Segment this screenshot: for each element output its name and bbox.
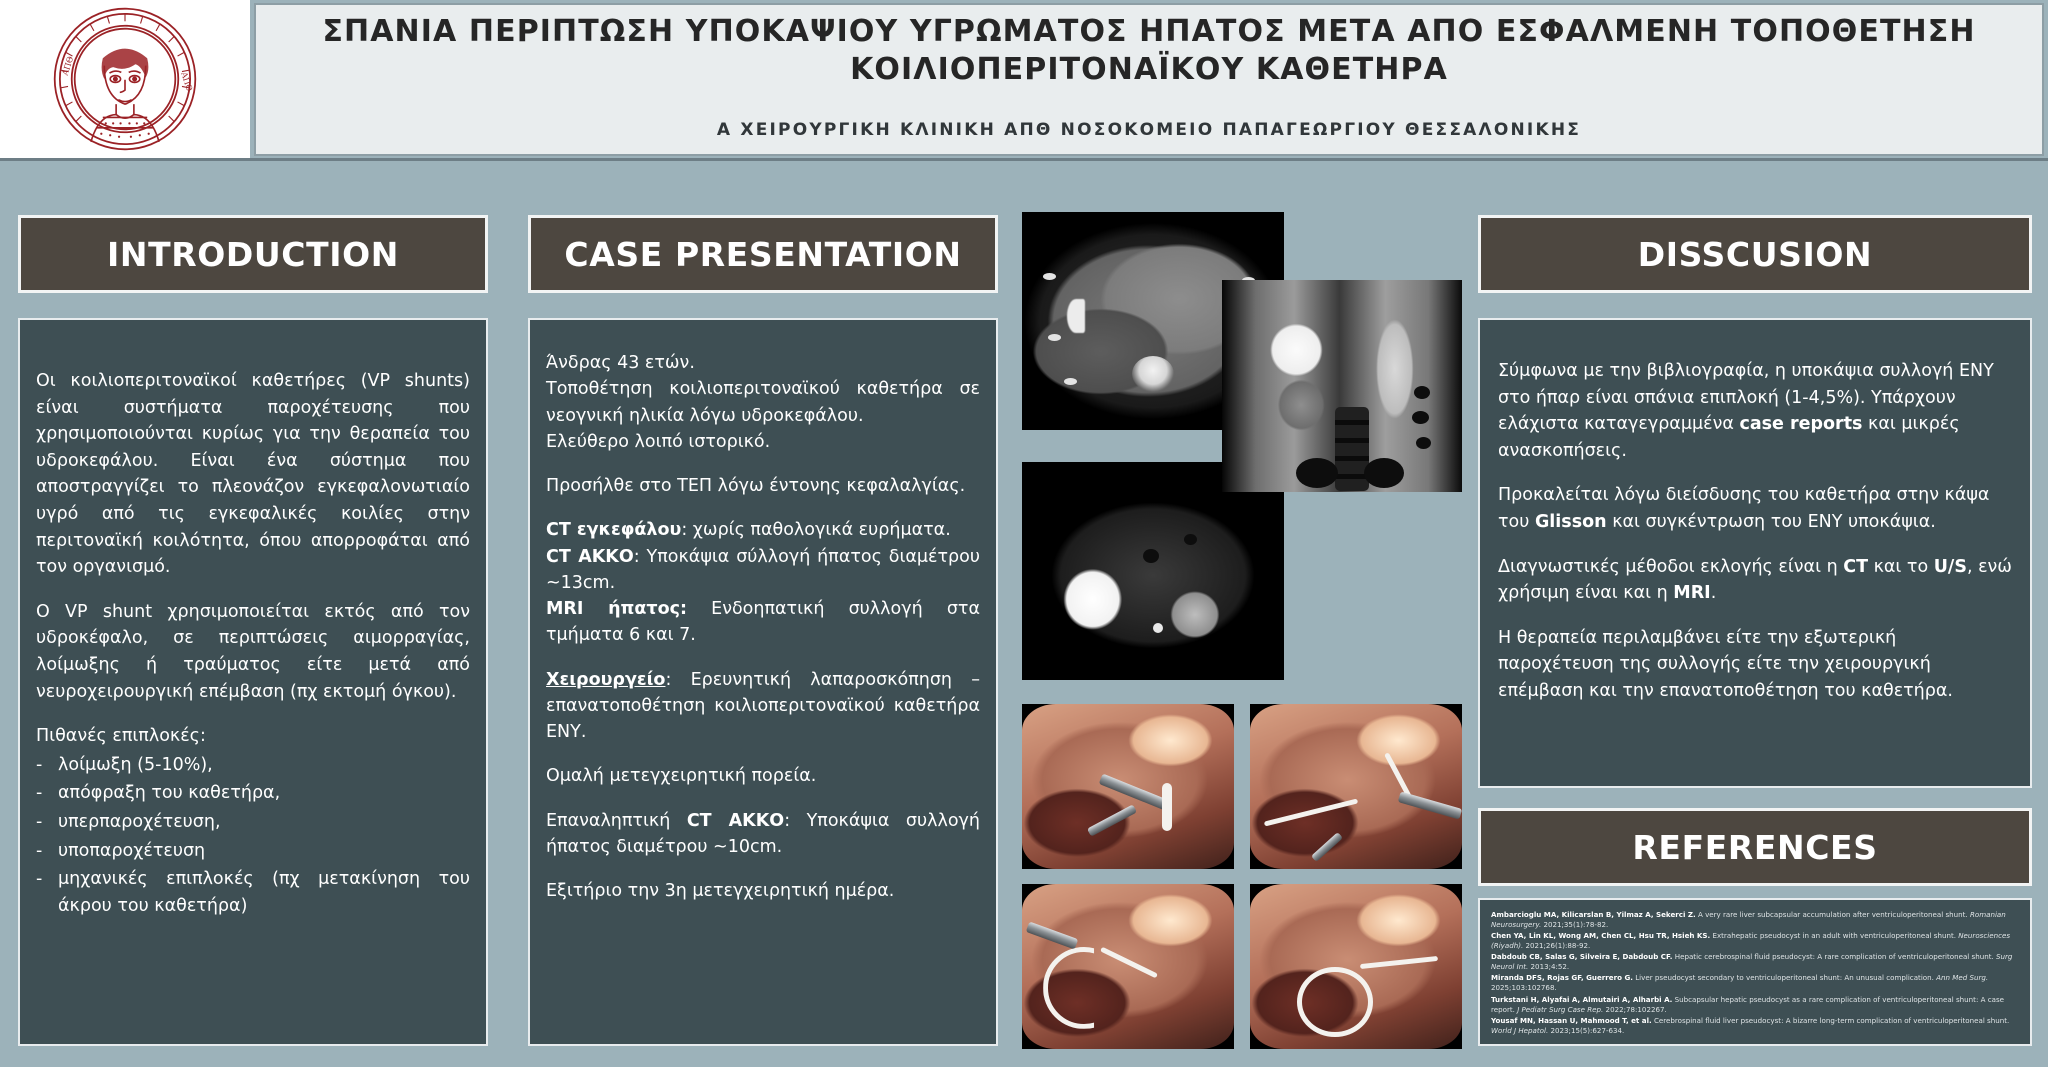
mri-bowel-loop — [1414, 386, 1430, 399]
discussion-p2-c: και συγκέντρωση του ΕΝΥ υποκάψια. — [1607, 512, 1936, 532]
mri-bowel-loop — [1143, 549, 1159, 563]
section-header-references: REFERENCES — [1478, 808, 2032, 886]
ct-brain-label: CT εγκεφάλου — [546, 520, 681, 540]
bullet-dash: - — [36, 809, 44, 836]
mri-spine-column — [1335, 407, 1369, 491]
case-ct-abdomen: CT ΑΚΚΟ: Υποκάψια σύλλογή ήπατος διαμέτρ… — [546, 544, 980, 597]
introduction-complications-list: - λοίμωξη (5-10%), - απόφραξη του καθετή… — [36, 752, 470, 920]
bullet-dash: - — [36, 866, 44, 919]
complication-text: λοίμωξη (5-10%), — [58, 752, 470, 779]
repeat-ct-prefix: Επαναληπτική — [546, 811, 687, 831]
reference-title: A very rare liver subcapsular accumulati… — [1696, 910, 1970, 919]
laparoscopy-photo-4 — [1250, 884, 1462, 1049]
repeat-ct-label: CT ΑΚΚΟ — [687, 811, 784, 831]
reference-item: Chen YA, Lin KL, Wong AM, Chen CL, Hsu T… — [1491, 931, 2020, 951]
poster-canvas: ΑΠΘ ΑΠΘ ΣΠΑΝΙΑ ΠΕΡΙΠΤΩΣΗ ΥΠΟΚΑΨΙΟΥ ΥΓΡΩΜ… — [0, 0, 2048, 1067]
reference-authors: Turkstani H, Alyafai A, Almutairi A, Alh… — [1491, 995, 1672, 1004]
discussion-p3-f: MRI — [1673, 583, 1710, 603]
case-patient-line: Άνδρας 43 ετών. — [546, 350, 980, 376]
introduction-heading-label: INTRODUCTION — [107, 235, 399, 274]
ct-rib — [1043, 273, 1056, 280]
laparoscopy-photo-2 — [1250, 704, 1462, 869]
discussion-p3-b: CT — [1843, 557, 1868, 577]
lap-catheter — [1162, 783, 1172, 831]
case-discharge: Εξιτήριο την 3η μετεγχειρητική ημέρα. — [546, 878, 980, 904]
section-body-case-presentation: Άνδρας 43 ετών. Τοποθέτηση κοιλιοπεριτον… — [528, 318, 998, 1046]
section-header-discussion: DISSCUSION — [1478, 215, 2032, 293]
discussion-p3-g: . — [1711, 583, 1717, 603]
header-divider — [0, 158, 2048, 161]
lap-tissue-field — [1250, 704, 1462, 869]
case-shunt-history: Τοποθέτηση κοιλιοπεριτοναϊκού καθετήρα σ… — [546, 376, 980, 429]
reference-journal: World J Hepatol. — [1491, 1026, 1548, 1035]
reference-authors: Yousaf MN, Hassan U, Mahmood T, et al. — [1491, 1016, 1652, 1025]
reference-authors: Dabdoub CB, Salas G, Silveira E, Dabdoub… — [1491, 952, 1672, 961]
list-item: - απόφραξη του καθετήρα, — [36, 780, 470, 807]
list-item: - λοίμωξη (5-10%), — [36, 752, 470, 779]
discussion-p3-c: και το — [1868, 557, 1934, 577]
case-postop-course: Ομαλή μετεγχειρητική πορεία. — [546, 763, 980, 789]
axial-mri-scan — [1022, 462, 1284, 680]
bullet-dash: - — [36, 838, 44, 865]
section-body-references: Ambarcioglu MA, Kilicarslan B, Yilmaz A,… — [1478, 898, 2032, 1046]
reference-title: Hepatic cerebrospinal fluid pseudocyst: … — [1672, 952, 1996, 961]
bullet-dash: - — [36, 752, 44, 779]
discussion-p1-b: case reports — [1739, 414, 1862, 434]
page-title: ΣΠΑΝΙΑ ΠΕΡΙΠΤΩΣΗ ΥΠΟΚΑΨΙΟΥ ΥΓΡΩΜΑΤΟΣ ΗΠΑ… — [310, 13, 1989, 90]
mri-label: MRI ήπατος: — [546, 599, 687, 619]
ct-rib — [1064, 378, 1077, 385]
reference-authors: Ambarcioglu MA, Kilicarslan B, Yilmaz A,… — [1491, 910, 1696, 919]
affiliation-subtitle: Α ΧΕΙΡΟΥΡΓΙΚΗ ΚΛΙΝΙΚΗ ΑΠΘ ΝΟΣΟΚΟΜΕΙΟ ΠΑΠ… — [717, 120, 1581, 140]
complication-text: απόφραξη του καθετήρα, — [58, 780, 470, 807]
reference-title: Extrahepatic pseudocyst in an adult with… — [1710, 931, 1958, 940]
case-mri: MRI ήπατος: Ενδοηπατική συλλογή στα τμήμ… — [546, 596, 980, 649]
poster-header: ΑΠΘ ΑΠΘ ΣΠΑΝΙΑ ΠΕΡΙΠΤΩΣΗ ΥΠΟΚΑΨΙΟΥ ΥΓΡΩΜ… — [0, 0, 2048, 160]
complication-text: υπερπαροχέτευση, — [58, 809, 470, 836]
case-admission: Προσήλθε στο ΤΕΠ λόγω έντονης κεφαλαλγία… — [546, 473, 980, 499]
section-header-introduction: INTRODUCTION — [18, 215, 488, 293]
list-item: - μηχανικές επιπλοκές (πχ μετακίνηση του… — [36, 866, 470, 919]
reference-citation: 2023;15(5):627-634. — [1548, 1026, 1624, 1035]
discussion-paragraph-1: Σύμφωνα με την βιβλιογραφία, η υποκάψια … — [1498, 358, 2012, 464]
reference-authors: Miranda DFS, Rojas GF, Guerrero G. — [1491, 973, 1633, 982]
reference-authors: Chen YA, Lin KL, Wong AM, Chen CL, Hsu T… — [1491, 931, 1710, 940]
references-heading-label: REFERENCES — [1632, 828, 1877, 867]
svg-text:ΑΠΘ: ΑΠΘ — [179, 70, 195, 93]
case-past-history: Ελεύθερο λοιπό ιστορικό. — [546, 429, 980, 455]
discussion-paragraph-2: Προκαλείται λόγω διείσδυσης του καθετήρα… — [1498, 482, 2012, 535]
mri-lung-base — [1364, 458, 1404, 488]
reference-item: Ambarcioglu MA, Kilicarslan B, Yilmaz A,… — [1491, 910, 2020, 930]
reference-title: Cerebrospinal fluid liver pseudocyst: A … — [1652, 1016, 2010, 1025]
reference-citation: 2025;103:102768. — [1491, 983, 1557, 992]
reference-item: Dabdoub CB, Salas G, Silveira E, Dabdoub… — [1491, 952, 2020, 972]
introduction-paragraph-2: Ο VP shunt χρησιμοποιείται εκτός από τον… — [36, 599, 470, 705]
reference-title: Liver pseudocyst secondary to ventriculo… — [1633, 973, 1936, 982]
ct-vertebra — [1132, 356, 1174, 392]
bullet-dash: - — [36, 780, 44, 807]
case-presentation-heading-label: CASE PRESENTATION — [564, 235, 961, 274]
discussion-paragraph-3: Διαγνωστικές μέθοδοι εκλογής είναι η CT … — [1498, 554, 2012, 607]
introduction-complications-label: Πιθανές επιπλοκές: — [36, 723, 470, 750]
coronal-mri-scan — [1222, 280, 1462, 492]
reference-citation: 2022;78:102267. — [1603, 1005, 1666, 1014]
lap-catheter-loop — [1297, 967, 1373, 1037]
reference-citation: 2013;4:52. — [1528, 962, 1569, 971]
ct-brain-text: : χωρίς παθολογικά ευρήματα. — [681, 520, 950, 540]
case-repeat-ct: Επαναληπτική CT ΑΚΚΟ: Υποκάψια συλλογή ή… — [546, 808, 980, 861]
section-body-discussion: Σύμφωνα με την βιβλιογραφία, η υποκάψια … — [1478, 318, 2032, 788]
reference-citation: 2021;35(1):78-82. — [1541, 920, 1608, 929]
discussion-p3-a: Διαγνωστικές μέθοδοι εκλογής είναι η — [1498, 557, 1843, 577]
mri-axial-field — [1022, 462, 1284, 680]
list-item: - υπερπαροχέτευση, — [36, 809, 470, 836]
reference-item: Turkstani H, Alyafai A, Almutairi A, Alh… — [1491, 995, 2020, 1015]
ct-catheter-tip — [1067, 299, 1085, 333]
complication-text: μηχανικές επιπλοκές (πχ μετακίνηση του ά… — [58, 866, 470, 919]
introduction-paragraph-1: Οι κοιλιοπεριτοναϊκοί καθετήρες (VP shun… — [36, 368, 470, 581]
imaging-column — [1022, 212, 1462, 1046]
reference-citation: 2021;26(1):88-92. — [1523, 941, 1590, 950]
auth-seal-icon: ΑΠΘ ΑΠΘ — [51, 5, 199, 153]
discussion-p2-b: Glisson — [1535, 512, 1607, 532]
university-logo: ΑΠΘ ΑΠΘ — [0, 0, 250, 158]
ct-abdomen-label: CT ΑΚΚΟ — [546, 547, 634, 567]
reference-item: Miranda DFS, Rojas GF, Guerrero G. Liver… — [1491, 973, 2020, 993]
title-panel: ΣΠΑΝΙΑ ΠΕΡΙΠΤΩΣΗ ΥΠΟΚΑΨΙΟΥ ΥΓΡΩΜΑΤΟΣ ΗΠΑ… — [254, 3, 2044, 156]
reference-journal: Ann Med Surg. — [1936, 973, 1988, 982]
case-ct-brain: CT εγκεφάλου: χωρίς παθολογικά ευρήματα. — [546, 517, 980, 543]
surgery-label: Χειρουργείο — [546, 670, 665, 690]
laparoscopy-photo-1 — [1022, 704, 1234, 869]
complication-text: υποπαροχέτευση — [58, 838, 470, 865]
discussion-p3-d: U/S — [1934, 557, 1967, 577]
section-header-case-presentation: CASE PRESENTATION — [528, 215, 998, 293]
case-surgery: Χειρουργείο: Ερευνητική λαπαροσκόπηση – … — [546, 667, 980, 746]
laparoscopy-photo-3 — [1022, 884, 1234, 1049]
section-body-introduction: Οι κοιλιοπεριτοναϊκοί καθετήρες (VP shun… — [18, 318, 488, 1046]
reference-item: Yousaf MN, Hassan U, Mahmood T, et al. C… — [1491, 1016, 2020, 1036]
reference-journal: J Pediatr Surg Case Rep. — [1517, 1005, 1603, 1014]
list-item: - υποπαροχέτευση — [36, 838, 470, 865]
discussion-paragraph-4: Η θεραπεία περιλαμβάνει είτε την εξωτερι… — [1498, 625, 2012, 705]
discussion-heading-label: DISSCUSION — [1638, 235, 1872, 274]
